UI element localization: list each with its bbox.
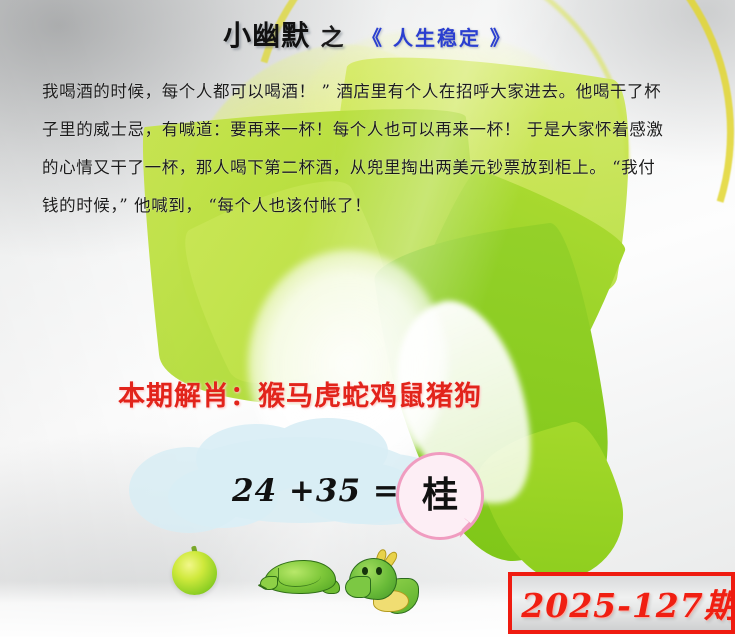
dragon-eye-left (362, 567, 368, 575)
dragon-snout-part (345, 576, 371, 598)
title-subtitle-text: 《 人生稳定 》 (362, 26, 512, 50)
snake-icon (258, 556, 338, 598)
answer-character: 桂 (422, 478, 458, 514)
title-main-text: 小幽默 (223, 19, 310, 52)
poster-canvas: 小幽默 之 《 人生稳定 》 我喝酒的时候，每个人都可以喝酒！ ” 酒店里有个人… (0, 0, 735, 637)
story-line-1: 我喝酒的时候，每个人都可以喝酒！ ” 酒店里有个人在招呼大家进去。他喝干了杯 (42, 84, 702, 122)
dragon-icon (343, 548, 419, 624)
title-particle-text: 之 (321, 25, 344, 51)
story-line-3: 的心情又干了一杯，那人喝下第二杯酒，从兜里掏出两美元钞票放到柜上。 “我付 (42, 160, 702, 198)
green-leaf-bottom-tip (472, 415, 638, 595)
equation-expression: 24 +35 = (232, 473, 400, 509)
leaf-glow-highlight (248, 250, 448, 480)
issue-badge: 2025-127期 (508, 572, 735, 634)
story-paragraph: 我喝酒的时候，每个人都可以喝酒！ ” 酒店里有个人在招呼大家进去。他喝干了杯 子… (42, 84, 702, 236)
green-ball-icon (172, 551, 217, 595)
dragon-eye-right (376, 567, 382, 575)
zodiac-prediction-text: 本期解肖：猴马虎蛇鸡鼠猪狗 (118, 374, 482, 413)
issue-badge-text: 2025-127期 (508, 579, 735, 627)
story-line-4: 钱的时候，” 他喊到， “每个人也该付帐了！ (42, 198, 702, 236)
page-title: 小幽默 之 《 人生稳定 》 (0, 14, 735, 54)
story-line-2: 子里的威士忌，有喊道：要再来一杯！每个人也可以再来一杯！ 于是大家怀着感激 (42, 122, 702, 160)
